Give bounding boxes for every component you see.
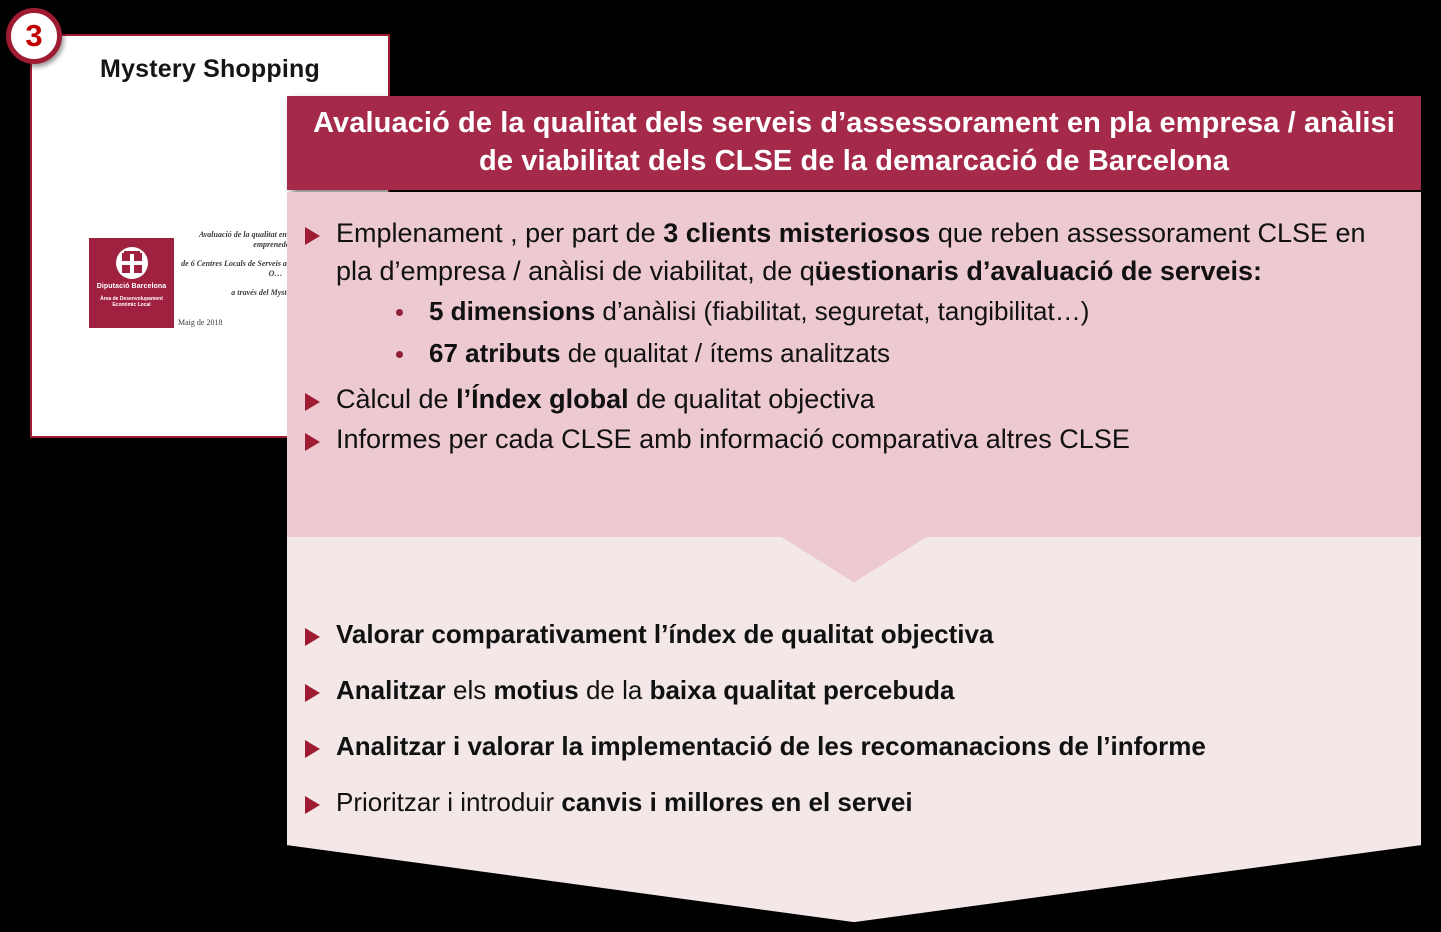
dot-bullet-icon	[396, 309, 403, 316]
sub-bullet-text: 5 dimensions d’anàlisi (fiabilitat, segu…	[429, 292, 1089, 330]
triangle-bullet-icon	[305, 628, 320, 646]
bold-run: baixa qualitat percebuda	[650, 675, 955, 705]
text-run: els	[446, 675, 494, 705]
bullet-item: Emplenament , per part de 3 clients mist…	[305, 214, 1403, 378]
cover-date: Maig de 2018	[178, 318, 222, 327]
sub-bullet-list: 5 dimensions d’anàlisi (fiabilitat, segu…	[336, 292, 1403, 372]
sub-bullet-item: 5 dimensions d’anàlisi (fiabilitat, segu…	[396, 292, 1403, 330]
bullet-item: Analitzar els motius de la baixa qualita…	[305, 671, 1403, 709]
diputacio-barcelona-logo: Diputació Barcelona Àrea de Desenvolupam…	[89, 238, 174, 328]
lower-bullet-list: Valorar comparativament l’índex de quali…	[305, 615, 1403, 821]
text-run: de qualitat / ítems analitzats	[561, 338, 891, 368]
triangle-bullet-icon	[305, 433, 320, 451]
banner-title: Avaluació de la qualitat dels serveis d’…	[301, 104, 1407, 180]
text-run: Emplenament , per part de	[336, 218, 663, 248]
bullet-text: Emplenament , per part de 3 clients mist…	[336, 214, 1403, 290]
bold-run: 3 clients misteriosos	[663, 218, 930, 248]
text-run: Prioritzar i introduir	[336, 787, 561, 817]
triangle-bullet-icon	[305, 796, 320, 814]
bullet-text: Prioritzar i introduir canvis i millores…	[336, 783, 1403, 821]
triangle-bullet-icon	[305, 393, 320, 411]
triangle-bullet-icon	[305, 740, 320, 758]
bullet-text: Valorar comparativament l’índex de quali…	[336, 615, 1403, 653]
bold-run: üestionaris d’avaluació de serveis:	[815, 256, 1262, 286]
lower-chevron-section: Valorar comparativament l’índex de quali…	[287, 537, 1421, 932]
bold-run: 67 atributs	[429, 338, 561, 368]
page-title: Mystery Shopping	[32, 55, 388, 84]
triangle-bullet-icon	[305, 227, 320, 245]
bullet-item: Analitzar i valorar la implementació de …	[305, 727, 1403, 765]
bold-run: motius	[494, 675, 579, 705]
banner-header: Avaluació de la qualitat dels serveis d’…	[287, 96, 1421, 190]
bold-run: Analitzar i valorar la implementació de …	[336, 731, 1206, 761]
bold-run: l’Índex global	[456, 384, 629, 414]
bullet-text: Analitzar i valorar la implementació de …	[336, 727, 1403, 765]
text-run: de qualitat objectiva	[629, 384, 875, 414]
bold-run: Valorar comparativament l’índex de quali…	[336, 619, 993, 649]
crest-icon	[116, 247, 148, 279]
bullet-item: Valorar comparativament l’índex de quali…	[305, 615, 1403, 653]
step-number-badge: 3	[6, 8, 62, 64]
upper-bullet-list: Emplenament , per part de 3 clients mist…	[305, 214, 1403, 458]
text-run: de la	[579, 675, 650, 705]
bold-run: 5 dimensions	[429, 296, 595, 326]
bold-run: canvis i millores en el servei	[561, 787, 912, 817]
bold-run: Analitzar	[336, 675, 446, 705]
bullet-text: Informes per cada CLSE amb informació co…	[336, 420, 1403, 458]
dot-bullet-icon	[396, 351, 403, 358]
logo-subtitle: Àrea de Desenvolupament Econòmic Local	[89, 296, 174, 308]
sub-bullet-text: 67 atributs de qualitat / ítems analitza…	[429, 334, 890, 372]
slide-canvas: Mystery Shopping Diputació Barcelona Àre…	[0, 0, 1441, 932]
text-run: Càlcul de	[336, 384, 456, 414]
bullet-text: Analitzar els motius de la baixa qualita…	[336, 671, 1403, 709]
bullet-item: Prioritzar i introduir canvis i millores…	[305, 783, 1403, 821]
step-number: 3	[25, 18, 42, 54]
text-run: d’anàlisi (fiabilitat, seguretat, tangib…	[595, 296, 1089, 326]
text-run: Informes per cada CLSE amb informació co…	[336, 424, 1130, 454]
bullet-item: Informes per cada CLSE amb informació co…	[305, 420, 1403, 458]
triangle-bullet-icon	[305, 684, 320, 702]
bullet-text: Càlcul de l’Índex global de qualitat obj…	[336, 380, 1403, 418]
logo-name: Diputació Barcelona	[97, 283, 167, 291]
sub-bullet-item: 67 atributs de qualitat / ítems analitza…	[396, 334, 1403, 372]
bullet-item: Càlcul de l’Índex global de qualitat obj…	[305, 380, 1403, 418]
